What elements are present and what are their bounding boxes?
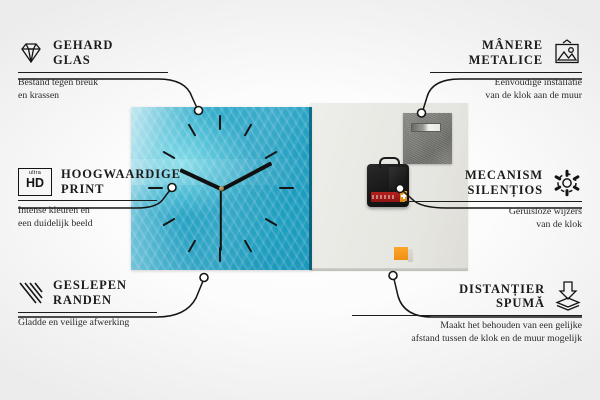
ultra-hd-icon: ultra HD bbox=[18, 168, 52, 196]
callout-title: GEHARD GLAS bbox=[53, 38, 113, 67]
diamond-icon bbox=[18, 41, 44, 65]
mechanism-shading bbox=[389, 167, 406, 189]
ultra-hd-icon-large-label: HD bbox=[19, 176, 51, 190]
hanging-frame-icon bbox=[552, 39, 582, 66]
callout-rule bbox=[18, 72, 168, 73]
callout-description: Gladde en veilige afwerking bbox=[18, 317, 208, 329]
callout-title: HOOGWAARDIGE PRINT bbox=[61, 167, 181, 196]
callout-title: MÂNERE METALICE bbox=[469, 38, 543, 67]
infographic-canvas: GEHARD GLAS Bestand tegen breuk en krass… bbox=[0, 0, 600, 400]
callout-rule bbox=[352, 315, 582, 316]
hanger-slot bbox=[411, 123, 441, 132]
center-cap bbox=[219, 186, 224, 191]
glass-edge-bevel bbox=[309, 107, 312, 270]
metal-hanger-plate bbox=[403, 113, 452, 164]
callout-title: GESLEPEN RANDEN bbox=[53, 278, 127, 307]
second-hand bbox=[220, 189, 222, 251]
battery-label bbox=[372, 195, 396, 199]
callout-rule bbox=[18, 200, 157, 201]
callout-description: Maakt het behouden van een gelijke afsta… bbox=[352, 320, 582, 344]
spacer-layers-icon bbox=[554, 281, 582, 311]
callout-distantier-spuma: DISTANȚIER SPUMĂ Maakt het behouden van … bbox=[352, 281, 582, 345]
callout-rule bbox=[18, 312, 157, 313]
callout-description: Bestand tegen breuk en krassen bbox=[18, 77, 198, 101]
callout-geslepen-randen: GESLEPEN RANDEN Gladde en veilige afwerk… bbox=[18, 278, 208, 330]
clock-back-panel-edge bbox=[310, 268, 468, 271]
callout-rule bbox=[430, 72, 582, 73]
callout-manere-metalice: MÂNERE METALICE Eenvoudige installatie v… bbox=[400, 38, 582, 102]
callout-hoogwaardige-print: ultra HD HOOGWAARDIGE PRINT Intense kleu… bbox=[18, 167, 208, 230]
callout-title: MECANISM SILENȚIOS bbox=[465, 168, 543, 197]
quartz-clock-mechanism bbox=[367, 164, 409, 207]
callout-gehard-glas: GEHARD GLAS Bestand tegen breuk en krass… bbox=[18, 38, 198, 102]
callout-description: Intense kleuren en een duidelijk beeld bbox=[18, 205, 208, 229]
callout-mecanism-silentios: MECANISM SILENȚIOS Geruisloze wijzers va… bbox=[405, 168, 582, 231]
callout-title: DISTANȚIER SPUMĂ bbox=[459, 282, 545, 311]
gear-icon bbox=[552, 169, 582, 197]
foam-spacer bbox=[394, 247, 408, 260]
callout-description: Geruisloze wijzers van de klok bbox=[405, 206, 582, 230]
callout-rule bbox=[405, 201, 582, 202]
foam-spacer-shadow bbox=[408, 249, 413, 262]
hour-marker bbox=[219, 115, 221, 130]
hour-marker bbox=[279, 187, 294, 189]
beveled-edges-icon bbox=[18, 281, 44, 305]
callout-description: Eenvoudige installatie van de klok aan d… bbox=[400, 77, 582, 101]
